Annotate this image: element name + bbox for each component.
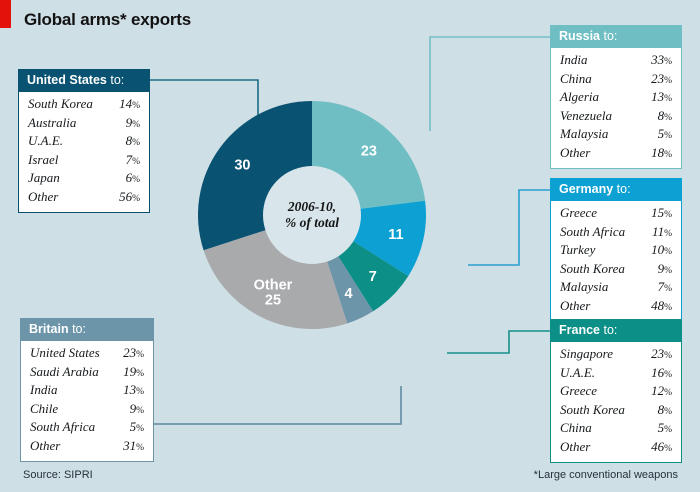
callout-row-country: Saudi Arabia bbox=[30, 364, 109, 381]
donut-slice-label-united-states: 30 bbox=[234, 158, 250, 174]
callout-to-britain: to: bbox=[69, 322, 86, 336]
callout-row-country: China bbox=[560, 71, 602, 88]
callout-row-country: Venezuela bbox=[560, 108, 622, 125]
percent-symbol: % bbox=[664, 407, 672, 417]
callout-row-value: 8% bbox=[658, 108, 672, 127]
percent-symbol: % bbox=[664, 131, 672, 141]
callout-header-russia: Russia to: bbox=[550, 25, 682, 48]
percent-symbol: % bbox=[664, 303, 672, 313]
percent-symbol: % bbox=[136, 387, 144, 397]
infographic-root: Global arms* exports 231174Other2530 200… bbox=[0, 0, 700, 492]
percent-symbol: % bbox=[664, 444, 672, 454]
callout-row: Singapore23% bbox=[560, 346, 672, 365]
callout-row-country: South Korea bbox=[560, 402, 635, 419]
callout-box-russia[interactable]: Russia to: India33%China23%Algeria13%Ven… bbox=[550, 25, 682, 169]
callout-row-value: 7% bbox=[126, 152, 140, 171]
callout-row-value: 13% bbox=[651, 89, 672, 108]
callout-to-russia: to: bbox=[600, 29, 617, 43]
callout-row: United States23% bbox=[30, 345, 144, 364]
percent-symbol: % bbox=[132, 175, 140, 185]
donut-slice-label-germany: 11 bbox=[388, 227, 403, 243]
percent-symbol: % bbox=[132, 120, 140, 130]
callout-row: Other18% bbox=[560, 145, 672, 164]
callout-body-united-states: South Korea14%Australia9%U.A.E.8%Israel7… bbox=[18, 92, 150, 213]
callout-row: Australia9% bbox=[28, 115, 140, 134]
callout-row-country: Other bbox=[30, 438, 70, 455]
percent-symbol: % bbox=[664, 94, 672, 104]
callout-header-germany: Germany to: bbox=[550, 178, 682, 201]
callout-body-germany: Greece15%South Africa11%Turkey10%South K… bbox=[550, 201, 682, 322]
callout-row-value: 23% bbox=[651, 71, 672, 90]
callout-row: South Africa11% bbox=[560, 224, 672, 243]
callout-row-country: Other bbox=[560, 439, 600, 456]
callout-row-value: 6% bbox=[126, 170, 140, 189]
callout-row-country: Japan bbox=[28, 170, 70, 187]
callout-row-country: Australia bbox=[28, 115, 86, 132]
percent-symbol: % bbox=[132, 138, 140, 148]
callout-row: Saudi Arabia19% bbox=[30, 364, 144, 383]
callout-row: South Korea9% bbox=[560, 261, 672, 280]
percent-symbol: % bbox=[136, 350, 144, 360]
callout-country-france: France bbox=[559, 323, 600, 337]
callout-row: Chile9% bbox=[30, 401, 144, 420]
callout-row: Greece12% bbox=[560, 383, 672, 402]
callout-row-value: 48% bbox=[651, 298, 672, 317]
callout-row: Greece15% bbox=[560, 205, 672, 224]
callout-row-value: 15% bbox=[651, 205, 672, 224]
callout-row-value: 56% bbox=[119, 189, 140, 208]
callout-country-united-states: United States bbox=[27, 73, 107, 87]
callout-row-value: 5% bbox=[130, 419, 144, 438]
callout-row-value: 16% bbox=[651, 365, 672, 384]
percent-symbol: % bbox=[136, 369, 144, 379]
callout-row-value: 23% bbox=[123, 345, 144, 364]
callout-row-value: 5% bbox=[658, 126, 672, 145]
donut-slice-label-britain: 4 bbox=[345, 286, 353, 302]
callout-row-country: Turkey bbox=[560, 242, 605, 259]
footnote: *Large conventional weapons bbox=[534, 469, 678, 481]
callout-row-value: 33% bbox=[651, 52, 672, 71]
percent-symbol: % bbox=[664, 210, 672, 220]
callout-row-value: 8% bbox=[126, 133, 140, 152]
callout-box-united-states[interactable]: United States to: South Korea14%Australi… bbox=[18, 69, 150, 213]
callout-body-france: Singapore23%U.A.E.16%Greece12%South Kore… bbox=[550, 342, 682, 463]
callout-header-britain: Britain to: bbox=[20, 318, 154, 341]
callout-row-value: 19% bbox=[123, 364, 144, 383]
callout-row-value: 9% bbox=[658, 261, 672, 280]
callout-row-value: 31% bbox=[123, 438, 144, 457]
percent-symbol: % bbox=[664, 388, 672, 398]
callout-row-country: U.A.E. bbox=[28, 133, 73, 150]
callout-row-value: 10% bbox=[651, 242, 672, 261]
callout-box-germany[interactable]: Germany to: Greece15%South Africa11%Turk… bbox=[550, 178, 682, 322]
callout-box-britain[interactable]: Britain to: United States23%Saudi Arabia… bbox=[20, 318, 154, 462]
callout-to-united-states: to: bbox=[107, 73, 124, 87]
callout-header-france: France to: bbox=[550, 319, 682, 342]
percent-symbol: % bbox=[664, 76, 672, 86]
callout-row-country: Greece bbox=[560, 205, 607, 222]
callout-to-germany: to: bbox=[613, 182, 630, 196]
callout-row-value: 7% bbox=[658, 279, 672, 298]
percent-symbol: % bbox=[136, 424, 144, 434]
callout-row-value: 18% bbox=[651, 145, 672, 164]
percent-symbol: % bbox=[664, 113, 672, 123]
callout-row: Venezuela8% bbox=[560, 108, 672, 127]
callout-body-russia: India33%China23%Algeria13%Venezuela8%Mal… bbox=[550, 48, 682, 169]
callout-header-united-states: United States to: bbox=[18, 69, 150, 92]
callout-row-country: India bbox=[560, 52, 597, 69]
percent-symbol: % bbox=[664, 229, 672, 239]
callout-row-value: 13% bbox=[123, 382, 144, 401]
percent-symbol: % bbox=[664, 57, 672, 67]
callout-row: Other48% bbox=[560, 298, 672, 317]
callout-body-britain: United States23%Saudi Arabia19%India13%C… bbox=[20, 341, 154, 462]
percent-symbol: % bbox=[664, 284, 672, 294]
callout-row-value: 9% bbox=[130, 401, 144, 420]
callout-row-country: Algeria bbox=[560, 89, 609, 106]
callout-row-country: South Korea bbox=[28, 96, 103, 113]
brand-accent-bar bbox=[0, 0, 11, 28]
callout-country-germany: Germany bbox=[559, 182, 613, 196]
percent-symbol: % bbox=[664, 425, 672, 435]
callout-row-country: Singapore bbox=[560, 346, 623, 363]
callout-row: U.A.E.8% bbox=[28, 133, 140, 152]
percent-symbol: % bbox=[132, 157, 140, 167]
callout-row: U.A.E.16% bbox=[560, 365, 672, 384]
callout-row: Israel7% bbox=[28, 152, 140, 171]
percent-symbol: % bbox=[132, 101, 140, 111]
percent-symbol: % bbox=[132, 194, 140, 204]
callout-row: Turkey10% bbox=[560, 242, 672, 261]
callout-row-country: India bbox=[30, 382, 67, 399]
callout-row-country: U.A.E. bbox=[560, 365, 605, 382]
callout-row-country: South Africa bbox=[560, 224, 635, 241]
callout-country-britain: Britain bbox=[29, 322, 69, 336]
callout-row: South Korea8% bbox=[560, 402, 672, 421]
chart-center-line2: % of total bbox=[285, 215, 339, 230]
chart-center-line1: 2006-10, bbox=[287, 199, 336, 214]
callout-row: Other31% bbox=[30, 438, 144, 457]
callout-row-country: Greece bbox=[560, 383, 607, 400]
callout-row: Malaysia5% bbox=[560, 126, 672, 145]
callout-row: Japan6% bbox=[28, 170, 140, 189]
percent-symbol: % bbox=[664, 247, 672, 257]
callout-country-russia: Russia bbox=[559, 29, 600, 43]
callout-row-value: 11% bbox=[652, 224, 672, 243]
callout-row-value: 9% bbox=[126, 115, 140, 134]
callout-row: China5% bbox=[560, 420, 672, 439]
callout-row-value: 14% bbox=[119, 96, 140, 115]
callout-row-country: Israel bbox=[28, 152, 68, 169]
percent-symbol: % bbox=[664, 150, 672, 160]
callout-box-france[interactable]: France to: Singapore23%U.A.E.16%Greece12… bbox=[550, 319, 682, 463]
callout-row: South Korea14% bbox=[28, 96, 140, 115]
percent-symbol: % bbox=[136, 406, 144, 416]
callout-row-country: United States bbox=[30, 345, 110, 362]
callout-row: India13% bbox=[30, 382, 144, 401]
callout-row-value: 5% bbox=[658, 420, 672, 439]
callout-to-france: to: bbox=[600, 323, 617, 337]
percent-symbol: % bbox=[664, 351, 672, 361]
callout-row-country: Other bbox=[560, 145, 600, 162]
callout-row-country: Malaysia bbox=[560, 279, 618, 296]
callout-row-country: China bbox=[560, 420, 602, 437]
donut-chart: 231174Other2530 2006-10, % of total bbox=[198, 101, 426, 329]
callout-row: China23% bbox=[560, 71, 672, 90]
callout-row: India33% bbox=[560, 52, 672, 71]
callout-row-country: Other bbox=[28, 189, 68, 206]
percent-symbol: % bbox=[664, 370, 672, 380]
callout-row-country: South Korea bbox=[560, 261, 635, 278]
callout-row: Algeria13% bbox=[560, 89, 672, 108]
callout-row: Malaysia7% bbox=[560, 279, 672, 298]
page-title: Global arms* exports bbox=[24, 10, 191, 30]
callout-row: Other56% bbox=[28, 189, 140, 208]
callout-row-country: Chile bbox=[30, 401, 68, 418]
donut-slice-label-france: 7 bbox=[369, 269, 377, 285]
callout-row-value: 8% bbox=[658, 402, 672, 421]
donut-slice-label-russia: 23 bbox=[361, 144, 377, 160]
callout-row-country: South Africa bbox=[30, 419, 105, 436]
callout-row: South Africa5% bbox=[30, 419, 144, 438]
callout-row-value: 46% bbox=[651, 439, 672, 458]
callout-row-country: Other bbox=[560, 298, 600, 315]
callout-row-country: Malaysia bbox=[560, 126, 618, 143]
callout-row: Other46% bbox=[560, 439, 672, 458]
callout-row-value: 23% bbox=[651, 346, 672, 365]
percent-symbol: % bbox=[664, 266, 672, 276]
callout-row-value: 12% bbox=[651, 383, 672, 402]
percent-symbol: % bbox=[136, 443, 144, 453]
source-note: Source: SIPRI bbox=[23, 469, 93, 481]
